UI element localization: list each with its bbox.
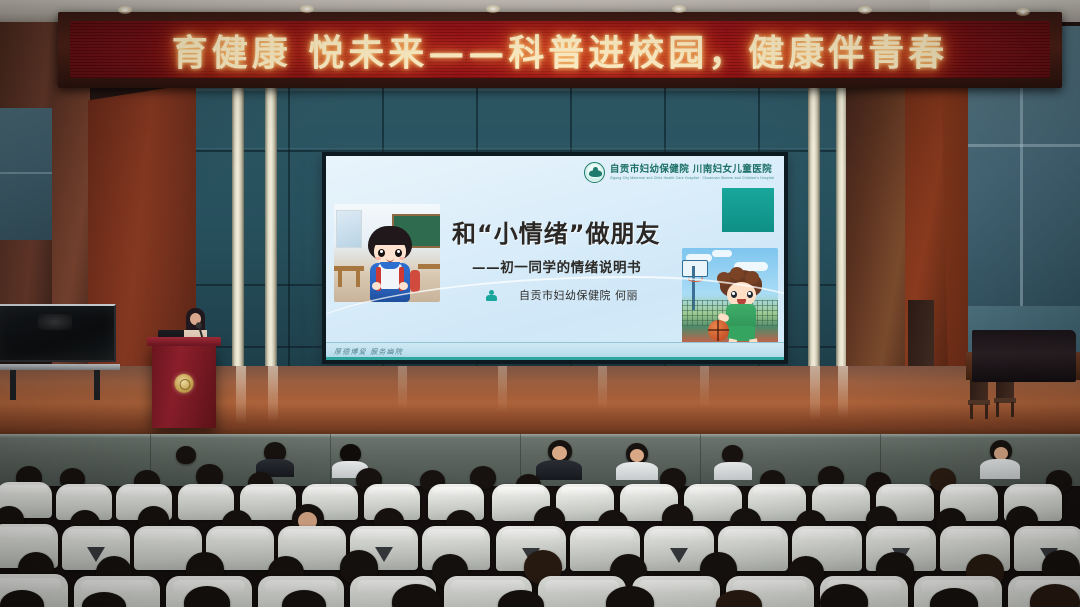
ceiling-spot-light	[300, 5, 314, 13]
audience-face	[552, 446, 567, 460]
hospital-name-english: Zigong City Maternal and Child Health Ca…	[610, 176, 774, 180]
triangle-seat-emblem-icon	[375, 547, 393, 562]
banner-text: 育健康 悦未来——科普进校园，健康伴青春	[70, 21, 1050, 78]
pilaster-right	[808, 88, 820, 388]
audience-shoulders	[536, 460, 582, 480]
stage-side-chair	[968, 378, 990, 418]
audience-shoulders	[714, 462, 752, 480]
presentation-slide: 自贡市妇幼保健院 川南妇女儿童医院 Zigong City Maternal a…	[326, 156, 784, 360]
audience-head	[176, 446, 196, 464]
classroom-window	[336, 210, 362, 248]
monitor-screen	[0, 304, 116, 362]
led-banner-frame: 育健康 悦未来——科普进校园，健康伴青春	[58, 12, 1062, 88]
led-banner-screen: 育健康 悦未来——科普进校园，健康伴青春	[70, 21, 1050, 78]
ceiling-spot-light	[118, 6, 132, 14]
schoolgirl-figure	[364, 226, 416, 302]
ceiling-spot-light	[486, 5, 500, 13]
teal-accent-block	[722, 188, 774, 232]
gold-school-emblem-icon	[175, 374, 194, 393]
stage-side-monitor	[0, 304, 122, 402]
ceiling-spot-light	[1016, 8, 1030, 16]
slide-subtitle: ——初一同学的情绪说明书	[472, 256, 641, 276]
cartoon-schoolgirl-illustration	[334, 204, 440, 302]
ceiling-spot-light	[858, 6, 872, 14]
audience-face	[630, 449, 644, 462]
audience-shoulders	[980, 459, 1020, 479]
pilaster-left-2	[265, 88, 277, 388]
slide-title: 和“小情绪”做朋友	[452, 214, 661, 249]
grand-piano	[972, 330, 1076, 382]
basketball-hoop-icon	[682, 260, 708, 277]
auditorium-scene: 育健康 悦未来——科普进校园，健康伴青春 自贡市妇幼保健院 川南妇女儿童医院 Z…	[0, 0, 1080, 607]
slide-hospital-header: 自贡市妇幼保健院 川南妇女儿童医院 Zigong City Maternal a…	[584, 162, 774, 183]
stage-side-chair	[994, 376, 1016, 416]
triangle-seat-emblem-icon	[670, 548, 688, 563]
projection-screen: 自贡市妇幼保健院 川南妇女儿童医院 Zigong City Maternal a…	[322, 152, 788, 364]
slide-motto: 厚德博爱 服务幽院	[334, 347, 403, 357]
hospital-name: 自贡市妇幼保健院 川南妇女儿童医院	[610, 165, 774, 175]
audience-area	[0, 440, 1080, 607]
speaking-podium	[152, 344, 216, 428]
ceiling-spot-light	[672, 5, 686, 13]
hospital-circle-logo-icon	[584, 162, 605, 183]
audience-shoulders	[616, 462, 658, 480]
pilaster-left	[232, 88, 244, 388]
